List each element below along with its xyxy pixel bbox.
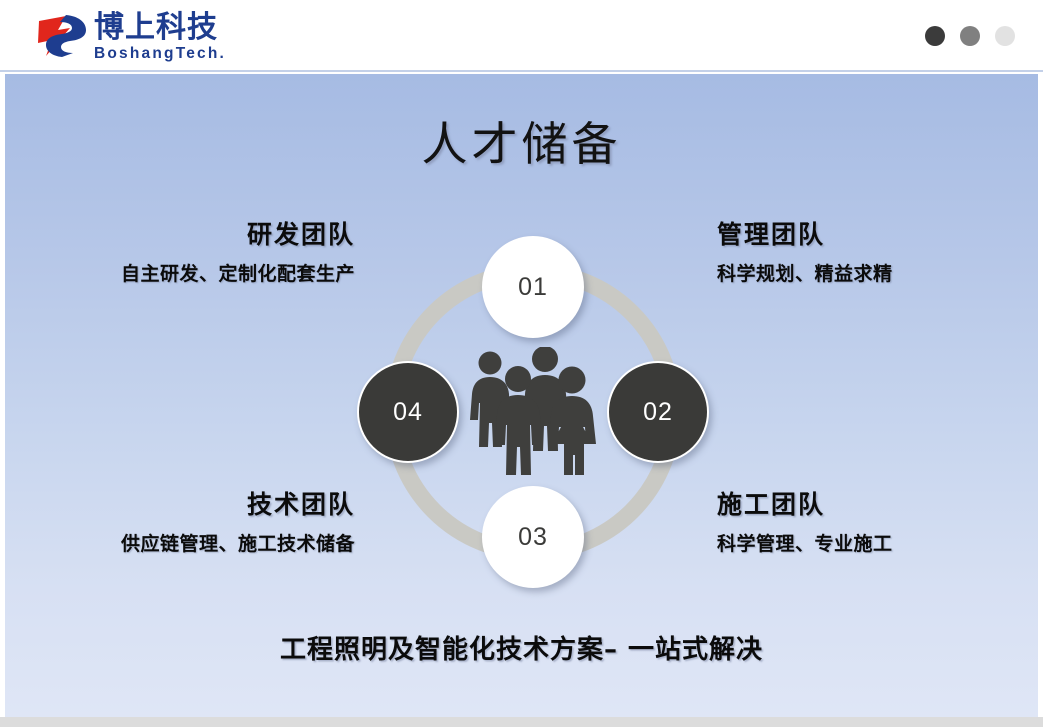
presentation-slide: 博上科技 BoshangTech. 人才储备 研发团队 自主研发、定制化配套生产… <box>0 0 1043 727</box>
label-block-construction: 施工团队 科学管理、专业施工 <box>717 489 1038 557</box>
node-02[interactable]: 02 <box>607 361 709 463</box>
header-dots-decoration <box>925 26 1015 46</box>
slide-header: 博上科技 BoshangTech. <box>0 0 1043 72</box>
logo-english-name: BoshangTech. <box>94 46 226 62</box>
logo-wordmark: 博上科技 BoshangTech. <box>94 11 226 61</box>
node-01[interactable]: 01 <box>482 236 584 338</box>
bottom-edge-strip <box>0 717 1043 727</box>
label-subtitle-tech: 供应链管理、施工技术储备 <box>35 533 355 557</box>
label-title-mgmt: 管理团队 <box>717 219 1038 250</box>
node-04-number: 04 <box>393 398 423 427</box>
label-subtitle-rd: 自主研发、定制化配套生产 <box>35 263 355 287</box>
people-group-icon <box>466 347 600 477</box>
label-title-rd: 研发团队 <box>35 219 355 250</box>
node-02-number: 02 <box>643 398 673 427</box>
dot-light-icon <box>995 26 1015 46</box>
label-block-mgmt: 管理团队 科学规划、精益求精 <box>717 219 1038 287</box>
slide-body: 人才储备 研发团队 自主研发、定制化配套生产 管理团队 科学规划、精益求精 技术… <box>5 74 1038 717</box>
company-logo: 博上科技 BoshangTech. <box>36 11 226 61</box>
node-01-number: 01 <box>518 273 548 302</box>
node-03-number: 03 <box>518 523 548 552</box>
label-block-tech: 技术团队 供应链管理、施工技术储备 <box>35 489 355 557</box>
page-title: 人才储备 <box>5 108 1038 174</box>
dot-medium-icon <box>960 26 980 46</box>
slide-footer-tagline: 工程照明及智能化技术方案– 一站式解决 <box>5 629 1038 666</box>
node-04[interactable]: 04 <box>357 361 459 463</box>
boshang-logo-mark-icon <box>36 13 88 59</box>
label-subtitle-mgmt: 科学规划、精益求精 <box>717 263 1038 287</box>
label-title-construction: 施工团队 <box>717 489 1038 520</box>
label-title-tech: 技术团队 <box>35 489 355 520</box>
dot-dark-icon <box>925 26 945 46</box>
logo-chinese-name: 博上科技 <box>94 12 226 44</box>
cycle-diagram: 01 02 03 04 <box>383 262 683 562</box>
node-03[interactable]: 03 <box>482 486 584 588</box>
label-block-rd: 研发团队 自主研发、定制化配套生产 <box>35 219 355 287</box>
label-subtitle-construction: 科学管理、专业施工 <box>717 533 1038 557</box>
